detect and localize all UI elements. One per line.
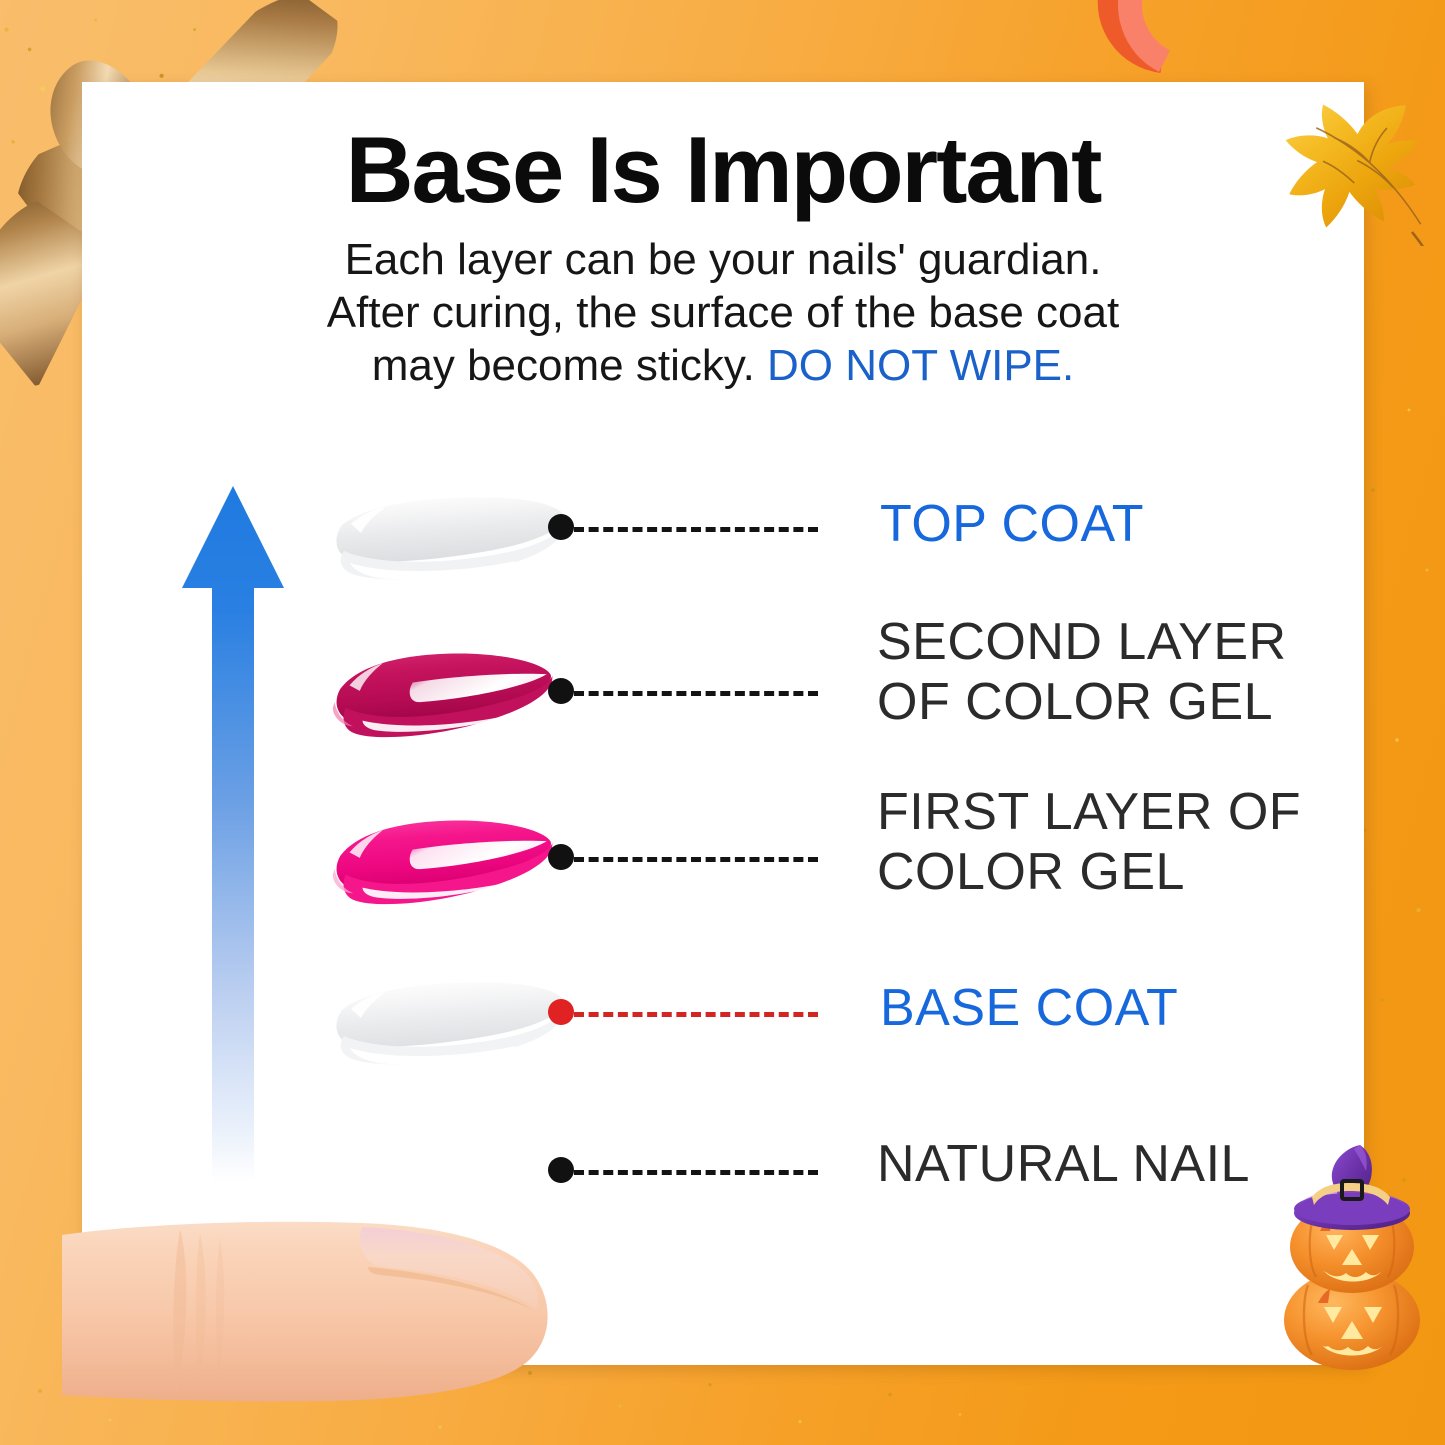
- subtitle-line-3-plain: may become sticky.: [372, 341, 767, 390]
- gold-glitter-speckles-bottom-icon: [0, 1355, 1000, 1445]
- nail-layer-top-coat: [328, 495, 565, 588]
- leader-line-first-color-gel: [574, 857, 818, 862]
- layer-label-first-color-gel: FIRST LAYER OF COLOR GEL: [877, 782, 1301, 903]
- leader-line-base-coat: [574, 1012, 818, 1017]
- nail-layer-second-color-gel: [324, 650, 561, 743]
- layer-label-second-color-gel: SECOND LAYER OF COLOR GEL: [877, 612, 1287, 733]
- layer-label-top-coat: TOP COAT: [880, 494, 1144, 554]
- callout-dot-second-color-gel: [548, 678, 574, 704]
- page-subtitle: Each layer can be your nails' guardian. …: [82, 234, 1364, 392]
- subtitle-line-2: After curing, the surface of the base co…: [82, 287, 1364, 340]
- callout-dot-top-coat: [548, 514, 574, 540]
- upward-direction-arrow-icon: [178, 482, 288, 1182]
- poster-canvas: Base Is Important Each layer can be your…: [0, 0, 1445, 1445]
- layer-label-base-coat: BASE COAT: [880, 978, 1178, 1038]
- do-not-wipe-warning: DO NOT WIPE.: [767, 341, 1074, 390]
- nail-layer-base-coat: [328, 980, 565, 1073]
- callout-dot-first-color-gel: [548, 844, 574, 870]
- leader-line-top-coat: [574, 527, 818, 532]
- leader-line-natural-nail: [574, 1170, 818, 1175]
- subtitle-line-3: may become sticky. DO NOT WIPE.: [82, 340, 1364, 393]
- page-title: Base Is Important: [82, 116, 1364, 224]
- callout-dot-base-coat: [548, 999, 574, 1025]
- callout-dot-natural-nail: [548, 1157, 574, 1183]
- finger-photo-icon: [62, 1217, 622, 1432]
- layer-label-natural-nail: NATURAL NAIL: [877, 1134, 1250, 1194]
- leader-line-second-color-gel: [574, 691, 818, 696]
- subtitle-line-1: Each layer can be your nails' guardian.: [82, 234, 1364, 287]
- content-card: Base Is Important Each layer can be your…: [82, 82, 1364, 1365]
- nail-layer-first-color-gel: [324, 817, 561, 910]
